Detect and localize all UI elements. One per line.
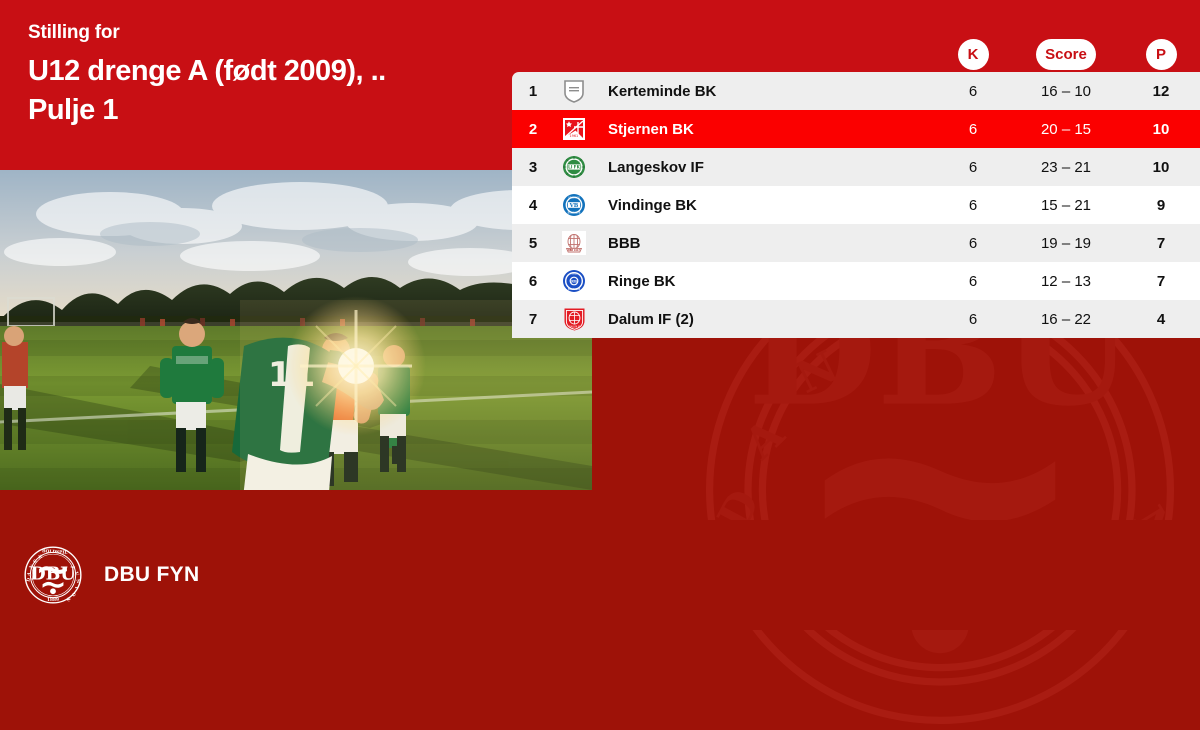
row-team-name: Stjernen BK <box>594 121 936 138</box>
svg-text:RB: RB <box>571 279 577 283</box>
row-team-name: Langeskov IF <box>594 159 936 176</box>
svg-text:BOLDSPIL: BOLDSPIL <box>42 549 68 556</box>
table-row-highlighted[interactable]: 2 1961 Stjernen BK 6 20 – 15 10 <box>512 110 1200 148</box>
footer-bar: DBU BOLDSPIL 1889 D A N S K U N I O N DB… <box>0 520 1200 630</box>
svg-text:BOLDKLUB: BOLDKLUB <box>568 211 581 214</box>
row-team-name: Ringe BK <box>594 273 936 290</box>
ringe-crest-icon: RB RINGE BOLDKLUB <box>554 269 594 293</box>
row-score: 15 – 21 <box>1010 197 1122 214</box>
table-row[interactable]: 6 RB RINGE BOLDKLUB Ringe BK 6 12 – 13 7 <box>512 262 1200 300</box>
dbu-seal-icon: DBU BOLDSPIL 1889 D A N S K U N I O N <box>24 546 82 604</box>
row-played: 6 <box>936 197 1010 214</box>
row-score: 23 – 21 <box>1010 159 1122 176</box>
column-header-score[interactable]: Score <box>1010 39 1122 70</box>
svg-text:VINDINGE: VINDINGE <box>568 197 580 200</box>
row-team-name: Vindinge BK <box>594 197 936 214</box>
page-title-line-1: U12 drenge A (født 2009), .. <box>28 52 508 91</box>
table-row[interactable]: 4 VB VINDINGE BOLDKLUB Vindinge BK 6 15 … <box>512 186 1200 224</box>
svg-text:RINGE: RINGE <box>570 272 578 275</box>
row-score: 16 – 10 <box>1010 83 1122 100</box>
row-points: 10 <box>1122 159 1200 176</box>
kerteminde-shield-icon <box>554 79 594 103</box>
row-score: 12 – 13 <box>1010 273 1122 290</box>
row-position: 7 <box>512 311 554 328</box>
row-points: 7 <box>1122 235 1200 252</box>
header-eyebrow: Stilling for <box>28 22 508 44</box>
row-score: 19 – 19 <box>1010 235 1122 252</box>
table-row[interactable]: 3 LI FK Langeskov IF 6 23 – 21 10 <box>512 148 1200 186</box>
footer-brand-label: DBU FYN <box>104 563 199 587</box>
row-score: 16 – 22 <box>1010 311 1122 328</box>
column-header-played[interactable]: K <box>936 39 1010 70</box>
row-points: 12 <box>1122 83 1200 100</box>
svg-text:1961: 1961 <box>570 134 579 138</box>
row-points: 10 <box>1122 121 1200 138</box>
row-played: 6 <box>936 121 1010 138</box>
svg-text:I: I <box>73 586 78 588</box>
row-team-name: BBB <box>594 235 936 252</box>
row-played: 6 <box>936 311 1010 328</box>
row-position: 4 <box>512 197 554 214</box>
table-row[interactable]: 7 DALUM IF Dalum IF (2) 6 16 – 22 4 <box>512 300 1200 338</box>
page-title-line-2: Pulje 1 <box>28 91 508 130</box>
row-points: 9 <box>1122 197 1200 214</box>
standings-table: 1 Kerteminde BK 6 16 – 10 12 2 1961 <box>512 72 1200 338</box>
vindinge-crest-icon: VB VINDINGE BOLDKLUB <box>554 193 594 217</box>
row-position: 3 <box>512 159 554 176</box>
row-played: 6 <box>936 83 1010 100</box>
row-team-name: Dalum IF (2) <box>594 311 936 328</box>
row-played: 6 <box>936 273 1010 290</box>
title-block: Stilling for U12 drenge A (født 2009), .… <box>28 22 508 130</box>
svg-text:DBU: DBU <box>31 565 76 585</box>
row-position: 1 <box>512 83 554 100</box>
row-points: 4 <box>1122 311 1200 328</box>
row-position: 6 <box>512 273 554 290</box>
svg-text:DALUM IF: DALUM IF <box>569 325 581 328</box>
dalum-shield-icon: DALUM IF <box>554 307 594 332</box>
table-row[interactable]: 5 BBB 1917 BBB 6 19 – 19 7 <box>512 224 1200 262</box>
row-played: 6 <box>936 159 1010 176</box>
svg-text:BOLDKLUB: BOLDKLUB <box>568 288 581 291</box>
row-played: 6 <box>936 235 1010 252</box>
row-team-name: Kerteminde BK <box>594 83 936 100</box>
svg-text:1889: 1889 <box>47 598 59 603</box>
svg-text:BBB 1917: BBB 1917 <box>568 249 580 252</box>
stjernen-crest-icon: 1961 <box>554 117 594 141</box>
football-match-photo: 11 <box>0 170 592 490</box>
langeskov-crest-icon: LI FK <box>554 155 594 179</box>
row-position: 5 <box>512 235 554 252</box>
svg-text:VB: VB <box>569 203 579 209</box>
row-position: 2 <box>512 121 554 138</box>
bbb-crest-icon: BBB 1917 <box>554 231 594 255</box>
table-header-row: K Score P <box>512 37 1200 71</box>
row-score: 20 – 15 <box>1010 121 1122 138</box>
table-row[interactable]: 1 Kerteminde BK 6 16 – 10 12 <box>512 72 1200 110</box>
row-points: 7 <box>1122 273 1200 290</box>
column-header-points[interactable]: P <box>1122 39 1200 70</box>
page-title: U12 drenge A (født 2009), .. Pulje 1 <box>28 52 508 130</box>
